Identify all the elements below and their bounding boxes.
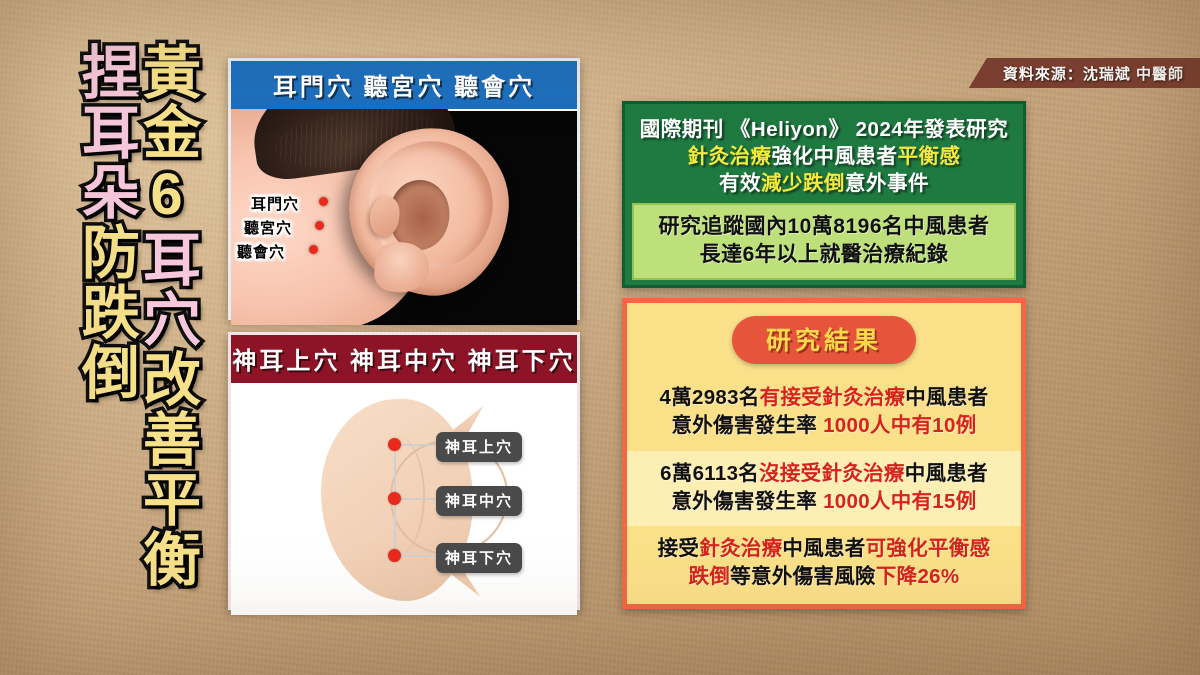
study-cohort-box: 研究追蹤國內10萬8196名中風患者 長達6年以上就醫治療紀錄: [632, 203, 1016, 280]
diagram-dot-middle: [388, 492, 401, 505]
plain-text: 中風患者: [905, 462, 988, 485]
title-column-left: 捏耳朵防跌倒: [76, 42, 135, 642]
highlighted-text: 針灸治療: [688, 145, 772, 168]
study-headline-line: 國際期刊 《Heliyon》 2024年發表研究: [634, 116, 1014, 143]
result-row: 6萬6113名沒接受針灸治療中風患者 意外傷害發生率 1000人中有15例: [627, 451, 1021, 527]
plain-text: 4萬2983名: [660, 386, 760, 409]
title-column-right: 黃金6耳穴改善平衡: [137, 42, 196, 642]
study-headline-line: 針灸治療強化中風患者平衡感: [634, 143, 1014, 170]
acupoint-label-tinggong: 聽宮穴: [244, 217, 292, 238]
source-ribbon: 資料來源：沈瑞斌 中醫師: [969, 58, 1200, 88]
diagram-label-middle: 神耳中穴: [436, 486, 522, 516]
highlighted-text: 1000人中有15例: [823, 490, 976, 513]
result-line: 4萬2983名有接受針灸治療中風患者: [633, 384, 1015, 412]
plain-text: 意外傷害發生率: [671, 490, 823, 513]
study-cohort-line: 研究追蹤國內10萬8196名中風患者: [638, 213, 1010, 241]
photo-panel-body: 耳門穴 聽宮穴 聽會穴: [231, 109, 577, 325]
results-box: 研究結果 4萬2983名有接受針灸治療中風患者 意外傷害發生率 1000人中有1…: [622, 298, 1026, 609]
result-line: 跌倒等意外傷害風險下降26%: [633, 563, 1015, 591]
highlighted-text: 可強化平衡感: [866, 537, 991, 560]
plain-text: 6萬6113名: [660, 462, 759, 485]
plain-text: 國際期刊 《Heliyon》 2024年發表研究: [640, 118, 1009, 141]
diagram-label-upper: 神耳上穴: [436, 432, 522, 462]
plain-text: 中風患者: [905, 386, 988, 409]
ear-diagram: 神耳上穴 神耳中穴 神耳下穴: [231, 383, 577, 615]
acupoint-dot-ermen: [319, 197, 328, 206]
result-line: 意外傷害發生率 1000人中有10例: [633, 412, 1015, 440]
study-cohort-line: 長達6年以上就醫治療紀錄: [638, 241, 1010, 269]
highlighted-text: 平衡感: [898, 145, 961, 168]
diagram-ear-spike-top: [449, 406, 484, 434]
acupoint-dot-tinggong: [315, 221, 324, 230]
ear-photograph: 耳門穴 聽宮穴 聽會穴: [231, 109, 577, 325]
plain-text: 強化中風患者: [772, 145, 898, 168]
study-info-box: 國際期刊 《Heliyon》 2024年發表研究 針灸治療強化中風患者平衡感 有…: [622, 101, 1026, 288]
highlighted-text: 沒接受針灸治療: [759, 462, 905, 485]
highlighted-text: 跌倒: [689, 565, 731, 588]
plain-text: 接受: [658, 537, 700, 560]
result-row: 4萬2983名有接受針灸治療中風患者 意外傷害發生率 1000人中有10例: [627, 375, 1021, 451]
results-title-pill: 研究結果: [732, 316, 916, 364]
highlighted-text: 針灸治療: [699, 537, 782, 560]
result-line: 接受針灸治療中風患者可強化平衡感: [633, 535, 1015, 563]
acupoint-label-tinghui: 聽會穴: [237, 241, 285, 262]
result-row: 接受針灸治療中風患者可強化平衡感 跌倒等意外傷害風險下降26%: [627, 526, 1021, 602]
plain-text: 意外傷害發生率: [671, 414, 823, 437]
diagram-dot-lower: [388, 549, 401, 562]
result-line: 意外傷害發生率 1000人中有15例: [633, 488, 1015, 516]
diagram-panel-body: 神耳上穴 神耳中穴 神耳下穴: [231, 383, 577, 615]
highlighted-text: 下降26%: [876, 565, 960, 588]
diagram-label-lower: 神耳下穴: [436, 543, 522, 573]
plain-text: 等意外傷害風險: [730, 565, 876, 588]
diagram-dot-upper: [388, 438, 401, 451]
photo-panel: 耳門穴 聽宮穴 聽會穴 耳門穴 聽宮穴 聽會穴: [228, 58, 580, 320]
study-headline: 國際期刊 《Heliyon》 2024年發表研究 針灸治療強化中風患者平衡感 有…: [632, 111, 1016, 203]
acupoint-label-ermen: 耳門穴: [251, 193, 299, 214]
source-label: 資料來源：沈瑞斌 中醫師: [1003, 63, 1184, 84]
plain-text: 意外事件: [845, 172, 929, 195]
results-title-wrap: 研究結果: [627, 303, 1021, 375]
plain-text: 有效: [719, 172, 761, 195]
highlighted-text: 1000人中有10例: [823, 414, 976, 437]
result-line: 6萬6113名沒接受針灸治療中風患者: [633, 460, 1015, 488]
diagram-panel: 神耳上穴 神耳中穴 神耳下穴 神耳上穴 神耳中穴 神耳下穴: [228, 332, 580, 610]
acupoint-dot-tinghui: [309, 245, 318, 254]
highlighted-text: 減少跌倒: [761, 172, 845, 195]
diagram-panel-header: 神耳上穴 神耳中穴 神耳下穴: [231, 335, 577, 383]
plain-text: 中風患者: [782, 537, 865, 560]
page-title: 黃金6耳穴改善平衡 捏耳朵防跌倒: [46, 42, 196, 642]
study-headline-line: 有效減少跌倒意外事件: [634, 170, 1014, 197]
highlighted-text: 有接受針灸治療: [760, 386, 906, 409]
photo-panel-header: 耳門穴 聽宮穴 聽會穴: [231, 61, 577, 109]
